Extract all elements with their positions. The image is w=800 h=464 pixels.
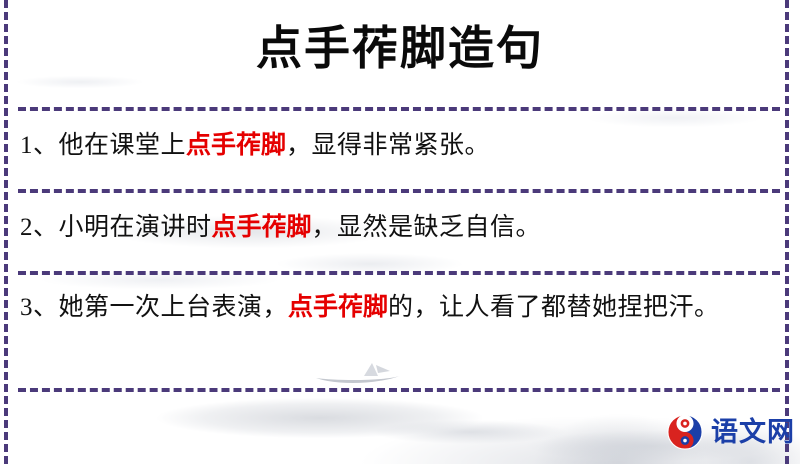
sentence-index: 2、 <box>20 214 59 241</box>
site-logo[interactable]: 语文网 <box>666 413 795 451</box>
boat-silhouette-icon <box>312 360 408 390</box>
frame-border-left <box>4 0 8 464</box>
sentence-index: 1、 <box>20 132 59 159</box>
sentence-text-before: 他在课堂上 <box>59 132 187 159</box>
sentence-text-before: 小明在演讲时 <box>59 214 212 241</box>
separator-line-4 <box>18 388 780 392</box>
sentence-text-after: 的，让人看了都替她捏把汗。 <box>388 294 720 321</box>
sentence-item: 3、她第一次上台表演，点手莋脚的，让人看了都替她捏把汗。 <box>20 286 762 329</box>
page-title: 点手莋脚造句 <box>0 18 800 80</box>
highlighted-idiom: 点手莋脚 <box>212 213 312 241</box>
highlighted-idiom: 点手莋脚 <box>288 293 388 321</box>
separator-line-3 <box>18 271 780 275</box>
separator-line-2 <box>18 189 780 193</box>
sentence-item: 2、小明在演讲时点手莋脚，显然是缺乏自信。 <box>20 206 762 249</box>
separator-line-1 <box>18 107 780 111</box>
highlighted-idiom: 点手莋脚 <box>186 131 286 159</box>
sentence-index: 3、 <box>20 294 59 321</box>
sentence-text-after: ，显得非常紧张。 <box>286 132 490 159</box>
frame-border-right <box>785 0 789 464</box>
sentence-text-after: ，显然是缺乏自信。 <box>312 214 542 241</box>
sentence-text-before: 她第一次上台表演， <box>59 294 289 321</box>
yin-yang-circle-icon <box>666 413 704 451</box>
site-logo-text: 语文网 <box>711 419 795 446</box>
worksheet-page: 点手莋脚造句 1、他在课堂上点手莋脚，显得非常紧张。 2、小明在演讲时点手莋脚，… <box>0 0 800 464</box>
sentence-item: 1、他在课堂上点手莋脚，显得非常紧张。 <box>20 124 762 167</box>
